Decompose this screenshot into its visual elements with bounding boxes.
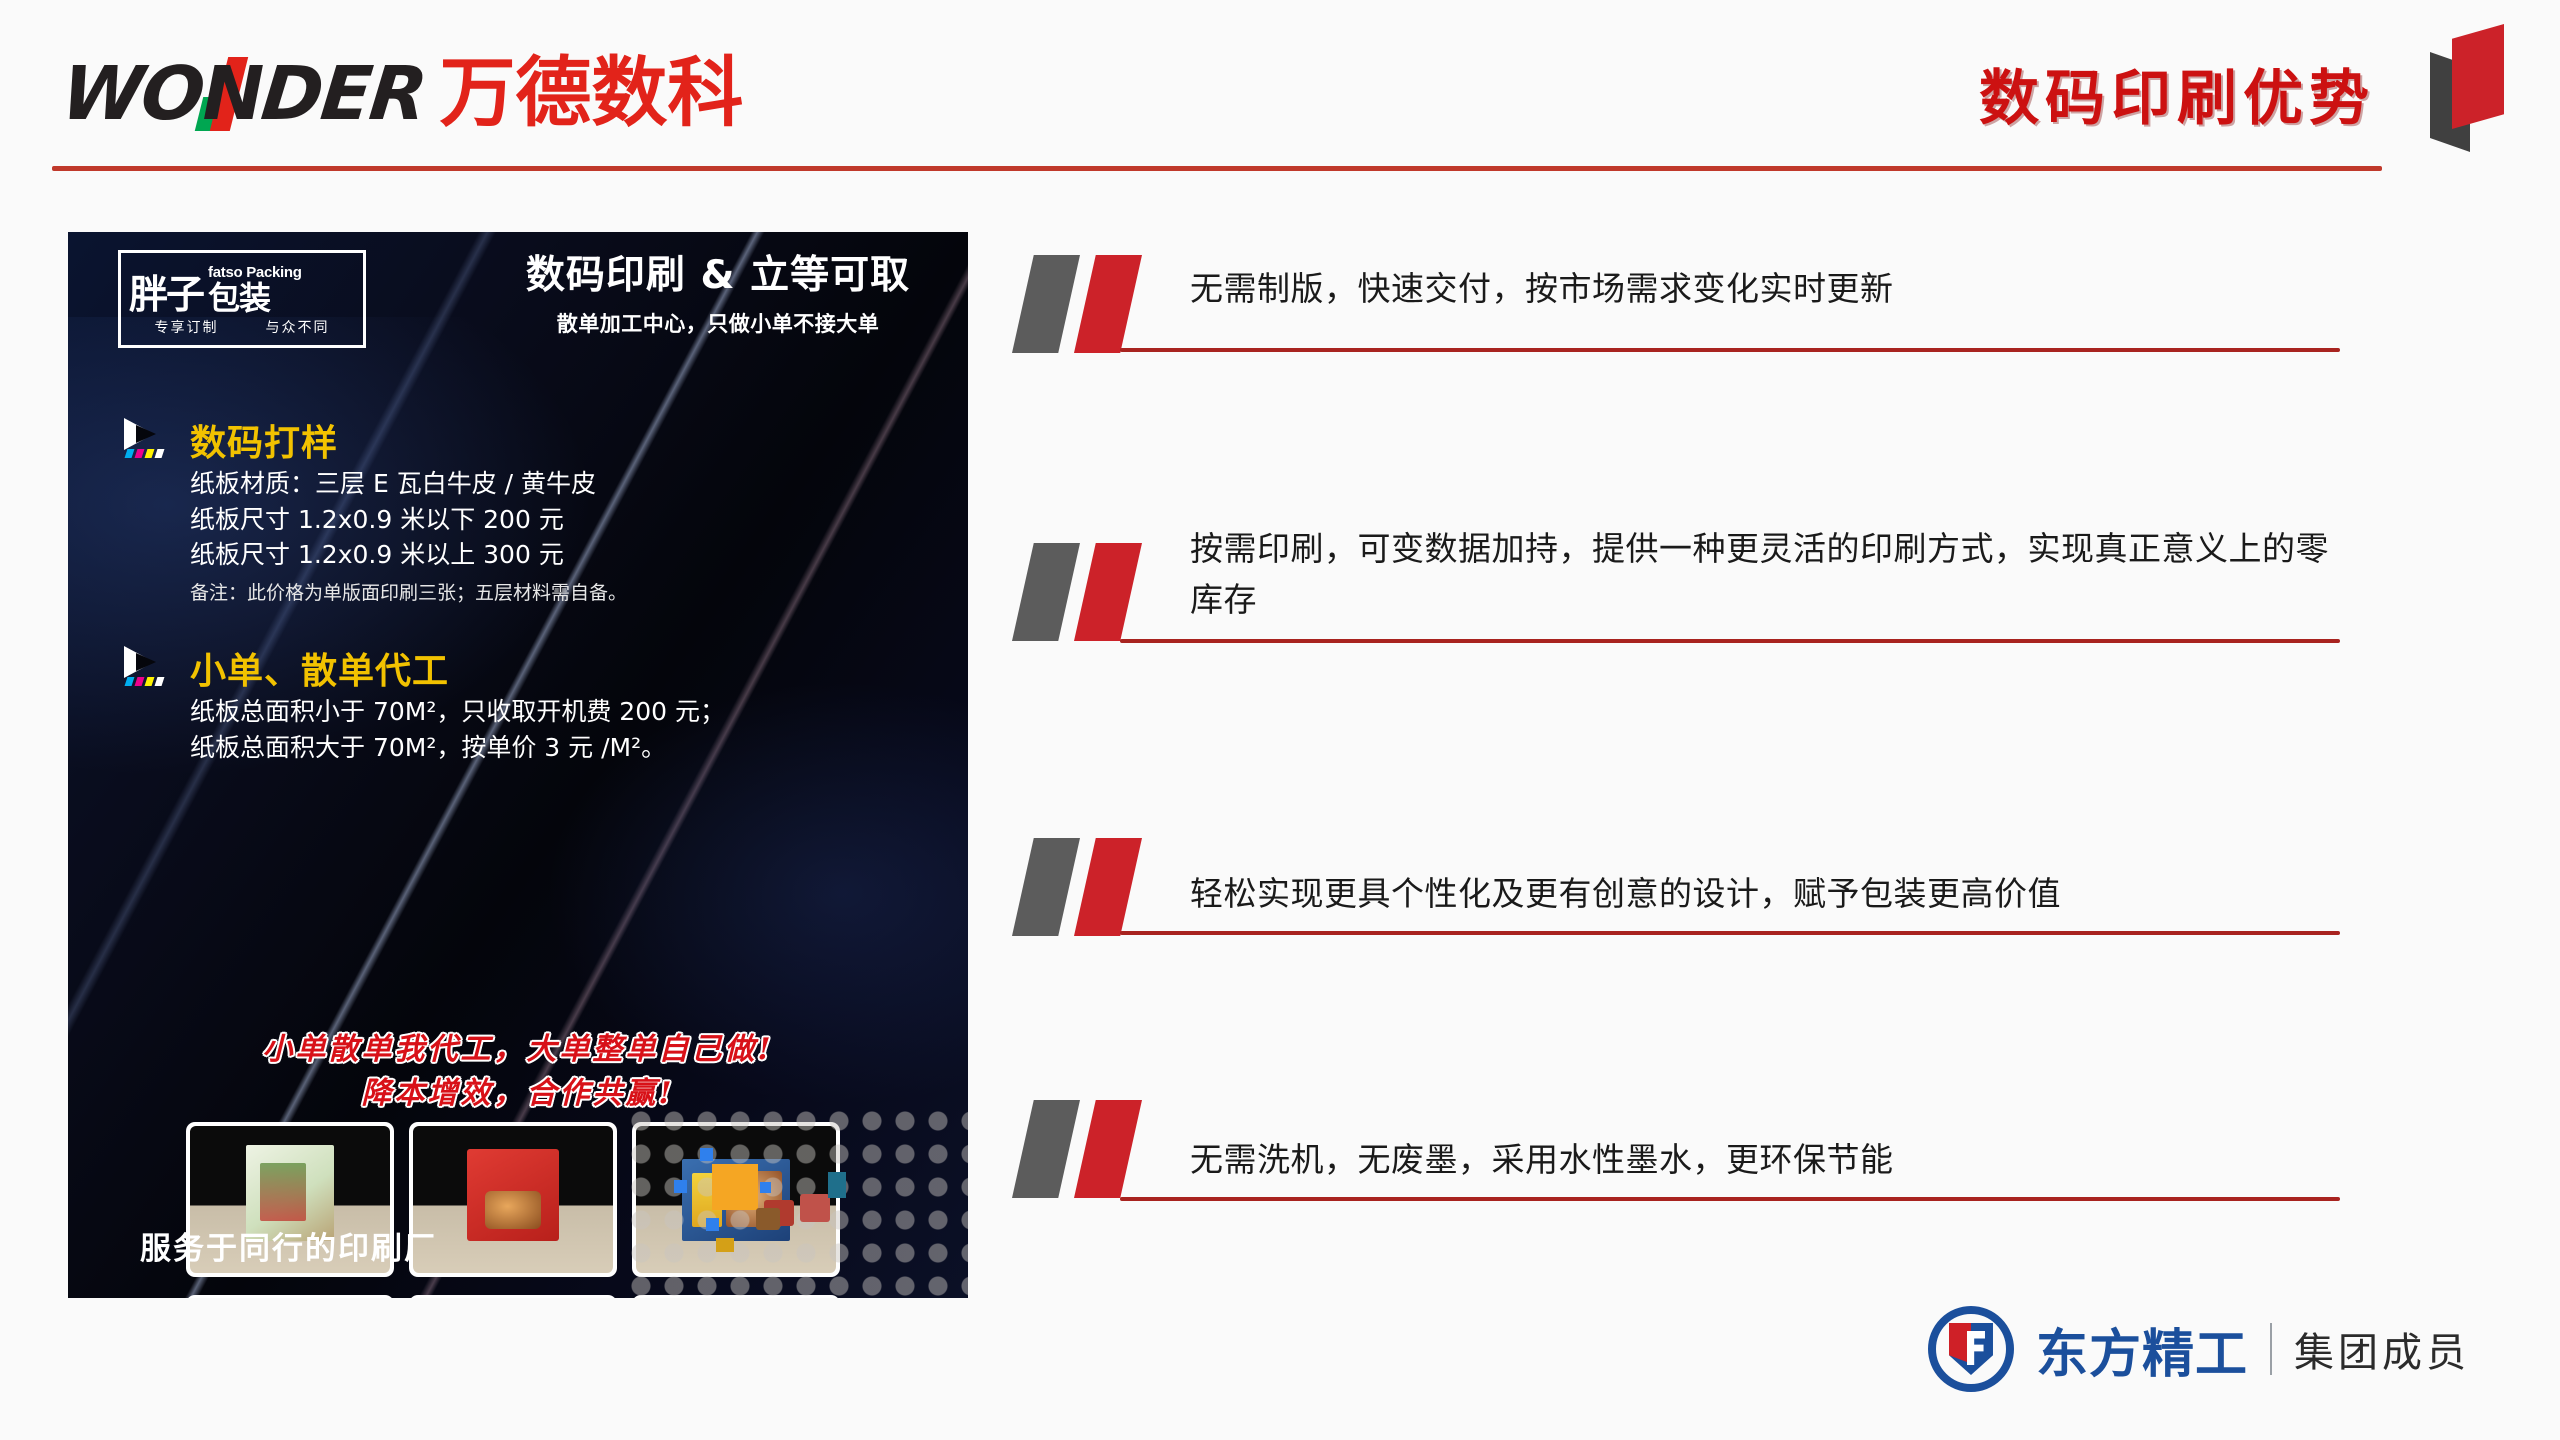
benefit-text-4: 无需洗机，无废墨，采用水性墨水，更环保节能: [1190, 1134, 2340, 1185]
marker-red-shape: [1074, 255, 1142, 353]
section-1-note: 备注：此价格为单版面印刷三张；五层材料需自备。: [190, 578, 627, 605]
dot-pattern-color-accents: [660, 1142, 850, 1252]
footer-company-name: 东方精工: [2036, 1312, 2248, 1387]
brand-latin-post: DER: [259, 57, 430, 131]
section-1-line-2: 纸板尺寸 1.2x0.9 米以下 200 元: [190, 502, 627, 538]
benefit-text-2: 按需印刷，可变数据加持，提供一种更灵活的印刷方式，实现真正意义上的零库存: [1190, 523, 2340, 625]
marker-gray-shape: [1012, 543, 1080, 641]
product-photo-5: [409, 1295, 617, 1298]
slide-canvas: WO N DER 万德数科 数码印刷优势 胖子: [0, 0, 2560, 1440]
fatso-logo-tagline: 专享订制 与众不同: [121, 317, 363, 337]
product-photo-4: [186, 1295, 394, 1298]
marker-gray-shape: [1012, 1100, 1080, 1198]
benefit-text-3: 轻松实现更具个性化及更有创意的设计，赋予包装更高价值: [1190, 868, 2340, 919]
section-2-body: 纸板总面积小于 70M²，只收取开机费 200 元； 纸板总面积大于 70M²，…: [190, 694, 725, 765]
double-chevron-marker-icon: [1012, 255, 1172, 353]
benefit-underline-3: [1120, 931, 2340, 935]
fatso-packing-logo: 胖子 fatso Packing 包装 专享订制 与众不同: [118, 250, 366, 348]
double-chevron-marker-icon: [1012, 838, 1172, 936]
marker-red-shape: [1074, 543, 1142, 641]
fatso-logo-cn-secondary: 包装: [208, 282, 302, 314]
section-2-heading: 小单、散单代工: [190, 642, 449, 694]
chevron-arrow-icon: [120, 418, 182, 470]
brand-chinese-name: 万德数科: [439, 55, 743, 131]
fatso-logo-row: 胖子 fatso Packing 包装: [121, 262, 363, 314]
section-1-heading: 数码打样: [190, 414, 338, 466]
product-photo-2: [409, 1122, 617, 1277]
brand-latin-n: N: [203, 51, 263, 137]
section-2-line-1: 纸板总面积小于 70M²，只收取开机费 200 元；: [190, 694, 725, 730]
fatso-logo-en: fatso Packing: [208, 265, 302, 280]
marker-gray-shape: [1012, 838, 1080, 936]
footer-member-label: 集团成员: [2294, 1320, 2470, 1378]
marker-red-shape: [1074, 838, 1142, 936]
promo-poster-image: 胖子 fatso Packing 包装 专享订制 与众不同 数码印刷 & 立等可…: [68, 232, 968, 1298]
wonder-brand-logo: WO N DER 万德数科: [62, 55, 743, 131]
section-2-line-2: 纸板总面积大于 70M²，按单价 3 元 /M²。: [190, 730, 725, 766]
footer-company-logo: 东方精工 集团成员: [1928, 1306, 2470, 1392]
poster-slogan-line-1: 小单散单我代工，大单整单自己做!: [68, 1028, 968, 1072]
poster-subheadline: 散单加工中心，只做小单不接大单: [498, 308, 938, 338]
slide-header: WO N DER 万德数科 数码印刷优势: [0, 0, 2560, 175]
brand-latin-pre: WO: [58, 57, 206, 131]
fatso-tag-left: 专享订制: [155, 317, 219, 337]
footer-divider: [2270, 1323, 2272, 1375]
marker-gray-shape: [1012, 255, 1080, 353]
double-chevron-marker-icon: [1012, 543, 1172, 641]
chevron-arrow-icon: [120, 646, 182, 698]
benefit-underline-1: [1120, 348, 2340, 352]
fatso-tag-right: 与众不同: [266, 317, 330, 337]
poster-bottom-caption: 服务于同行的印刷厂: [140, 1223, 437, 1268]
dongfang-emblem-icon: [1928, 1306, 2014, 1392]
poster-headline-block: 数码印刷 & 立等可取 散单加工中心，只做小单不接大单: [498, 254, 938, 338]
header-divider: [52, 166, 2382, 171]
poster-header: 胖子 fatso Packing 包装 专享订制 与众不同 数码印刷 & 立等可…: [68, 232, 968, 364]
fatso-logo-right-stack: fatso Packing 包装: [208, 265, 302, 314]
benefit-underline-2: [1120, 639, 2340, 643]
section-1-body: 纸板材质：三层 E 瓦白牛皮 / 黄牛皮 纸板尺寸 1.2x0.9 米以下 20…: [190, 466, 627, 605]
corner-red-shape: [2452, 24, 2504, 129]
poster-slogan: 小单散单我代工，大单整单自己做! 降本增效，合作共赢!: [68, 1028, 968, 1115]
double-chevron-marker-icon: [1012, 1100, 1172, 1198]
marker-red-shape: [1074, 1100, 1142, 1198]
fatso-logo-cn-primary: 胖子: [129, 278, 203, 314]
corner-decoration-icon: [2412, 10, 2532, 160]
brand-n-accent: N: [203, 57, 263, 131]
page-title: 数码印刷优势: [1979, 50, 2375, 137]
benefit-text-1: 无需制版，快速交付，按市场需求变化实时更新: [1190, 263, 2340, 314]
benefit-underline-4: [1120, 1197, 2340, 1201]
section-1-line-3: 纸板尺寸 1.2x0.9 米以上 300 元: [190, 537, 627, 573]
section-1-line-1: 纸板材质：三层 E 瓦白牛皮 / 黄牛皮: [190, 466, 627, 502]
poster-headline: 数码印刷 & 立等可取: [498, 254, 938, 299]
